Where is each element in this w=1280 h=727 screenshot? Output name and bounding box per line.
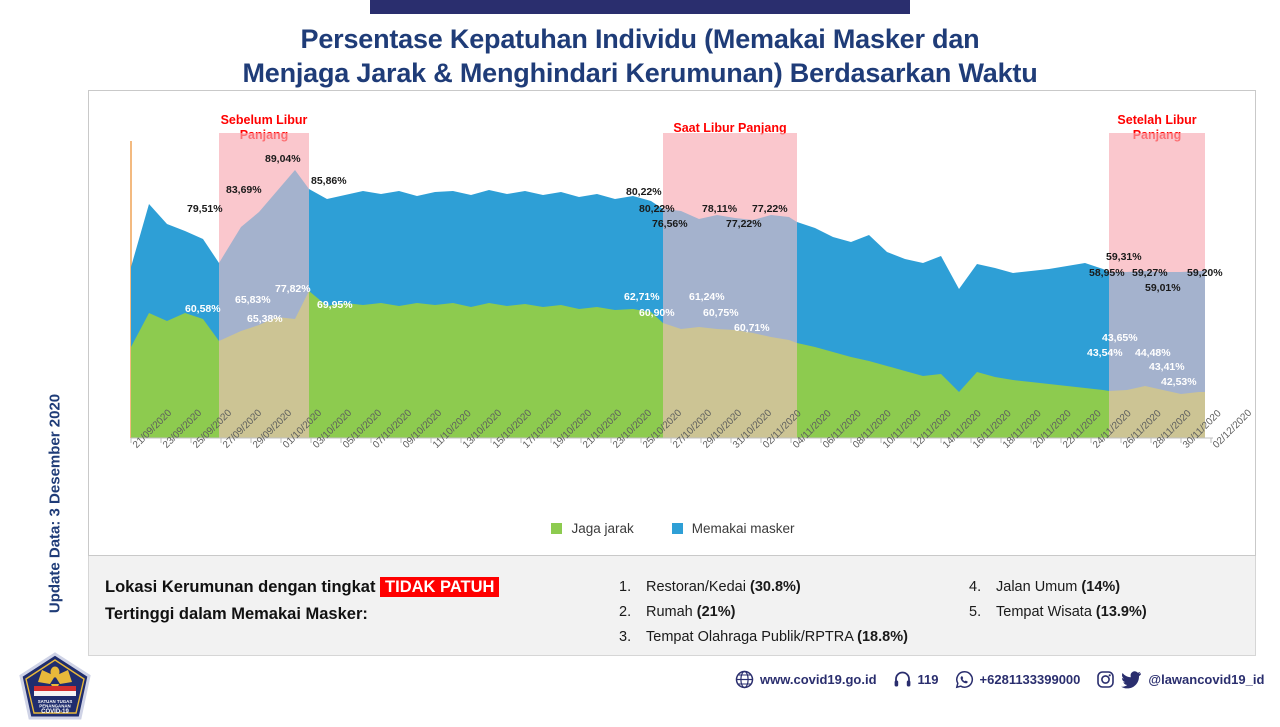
footer-contacts: www.covid19.go.id 119 +6281133399000 (735, 670, 1264, 689)
legend-swatch-green (551, 523, 562, 534)
data-label-jarak-b1-4: 77,82% (275, 283, 311, 295)
page-title-line-2: Menjaga Jarak & Menghindari Kerumunan) B… (90, 56, 1190, 90)
footer-social[interactable]: @lawancovid19_id (1096, 670, 1264, 689)
data-label-jarak-b1-5: 69,95% (317, 299, 353, 311)
list-item: 1. Restoran/Kedai (30.8%) (619, 575, 1019, 600)
info-panel: Lokasi Kerumunan dengan tingkat TIDAK PA… (88, 556, 1256, 656)
satgas-covid19-logo: SATUAN TUGAS PENANGANAN COVID-19 (18, 652, 92, 722)
headset-icon (893, 670, 912, 689)
data-label-masker-b3-4: 59,01% (1145, 282, 1181, 294)
data-label-masker-b3-3: 59,27% (1132, 267, 1168, 279)
svg-text:COVID-19: COVID-19 (41, 709, 69, 715)
data-label-masker-b2-3: 76,56% (652, 218, 688, 230)
info-heading-line2: Tertinggi dalam Memakai Masker: (105, 605, 368, 623)
data-label-masker-b3-5: 59,20% (1187, 267, 1223, 279)
data-label-jarak-b1-3: 65,38% (247, 313, 283, 325)
legend-swatch-blue (672, 523, 683, 534)
list-item-name: Tempat Wisata (996, 604, 1096, 620)
info-heading-highlight: TIDAK PATUH (380, 577, 499, 597)
footer-website-label: www.covid19.go.id (760, 672, 877, 687)
list-item-name: Rumah (646, 604, 697, 620)
legend-item-jaga-jarak[interactable]: Jaga jarak (551, 521, 633, 536)
list-item: 4. Jalan Umum (14%) (969, 575, 1269, 600)
data-label-jarak-b3-2: 43,65% (1102, 332, 1138, 344)
data-label-jarak-b3-3: 44,48% (1135, 347, 1171, 359)
data-label-masker-b1-3: 89,04% (265, 153, 301, 165)
footer: SATUAN TUGAS PENANGANAN COVID-19 www.cov… (0, 660, 1280, 718)
list-item: 2. Rumah (21%) (619, 600, 1019, 625)
data-label-masker-b1-4: 85,86% (311, 175, 347, 187)
data-label-jarak-b2-1: 62,71% (624, 291, 660, 303)
data-label-jarak-b3-5: 42,53% (1161, 376, 1197, 388)
data-label-masker-b2-1: 80,22% (626, 186, 662, 198)
legend-label-jaga-jarak: Jaga jarak (571, 521, 633, 536)
list-item-value: (30.8%) (750, 579, 801, 595)
update-data-note: Update Data: 3 Desember 2020 (10, 370, 90, 650)
twitter-icon (1121, 670, 1142, 689)
data-label-jarak-b2-4: 60,75% (703, 307, 739, 319)
legend-item-memakai-masker[interactable]: Memakai masker (672, 521, 795, 536)
list-item-name: Tempat Olahraga Publik/RPTRA (646, 629, 857, 645)
data-label-jarak-b1-2: 65,83% (235, 294, 271, 306)
whatsapp-icon (955, 670, 974, 689)
list-item-value: (18.8%) (857, 629, 908, 645)
data-label-masker-b3-2: 59,31% (1106, 251, 1142, 263)
data-label-masker-b2-6: 77,22% (726, 218, 762, 230)
band-overlay-saat (663, 133, 797, 438)
page-title: Persentase Kepatuhan Individu (Memakai M… (90, 22, 1190, 90)
data-label-jarak-b2-2: 60,90% (639, 307, 675, 319)
data-label-masker-b1-1: 79,51% (187, 203, 223, 215)
footer-hotline-label: 119 (918, 672, 939, 687)
list-item-text: Tempat Olahraga Publik/RPTRA (18.8%) (646, 625, 908, 650)
data-label-masker-b3-1: 58,95% (1089, 267, 1125, 279)
data-label-masker-b2-5: 77,22% (752, 203, 788, 215)
instagram-icon (1096, 670, 1115, 689)
footer-website[interactable]: www.covid19.go.id (735, 670, 877, 689)
list-item-text: Restoran/Kedai (30.8%) (646, 575, 801, 600)
list-item-name: Restoran/Kedai (646, 579, 750, 595)
footer-hotline[interactable]: 119 (893, 670, 939, 689)
chart-panel: Sebelum Libur Panjang Saat Libur Panjang… (88, 90, 1256, 556)
list-item-text: Rumah (21%) (646, 600, 735, 625)
footer-whatsapp-label: +6281133399000 (980, 672, 1081, 687)
footer-whatsapp[interactable]: +6281133399000 (955, 670, 1081, 689)
list-item-value: (13.9%) (1096, 604, 1147, 620)
legend-label-memakai-masker: Memakai masker (692, 521, 795, 536)
update-data-label: Update Data: 3 Desember 2020 (47, 374, 64, 634)
info-heading: Lokasi Kerumunan dengan tingkat TIDAK PA… (105, 574, 605, 628)
footer-social-label: @lawancovid19_id (1148, 672, 1264, 687)
list-item-name: Jalan Umum (996, 579, 1081, 595)
data-label-masker-b2-2: 80,22% (639, 203, 675, 215)
area-chart-plot (89, 91, 1257, 451)
info-list-column-1: 1. Restoran/Kedai (30.8%) 2. Rumah (21%)… (619, 575, 1019, 650)
list-item-number: 5. (969, 600, 987, 625)
chart-legend: Jaga jarak Memakai masker (89, 521, 1257, 536)
data-label-jarak-b3-4: 43,41% (1149, 361, 1185, 373)
globe-icon (735, 670, 754, 689)
info-list-column-2: 4. Jalan Umum (14%) 5. Tempat Wisata (13… (969, 575, 1269, 625)
page-title-line-1: Persentase Kepatuhan Individu (Memakai M… (90, 22, 1190, 56)
data-label-jarak-b3-1: 43,54% (1087, 347, 1123, 359)
list-item: 3. Tempat Olahraga Publik/RPTRA (18.8%) (619, 625, 1019, 650)
svg-text:PENANGANAN: PENANGANAN (39, 704, 70, 709)
list-item-value: (21%) (697, 604, 736, 620)
info-heading-pre: Lokasi Kerumunan dengan tingkat (105, 578, 380, 596)
list-item-number: 3. (619, 625, 637, 650)
list-item-number: 4. (969, 575, 987, 600)
data-label-masker-b1-2: 83,69% (226, 184, 262, 196)
data-label-jarak-b1-1: 60,58% (185, 303, 221, 315)
list-item-text: Jalan Umum (14%) (996, 575, 1120, 600)
data-label-jarak-b2-5: 60,71% (734, 322, 770, 334)
top-banner (370, 0, 910, 14)
list-item-value: (14%) (1081, 579, 1120, 595)
data-label-jarak-b2-3: 61,24% (689, 291, 725, 303)
list-item-text: Tempat Wisata (13.9%) (996, 600, 1147, 625)
list-item: 5. Tempat Wisata (13.9%) (969, 600, 1269, 625)
list-item-number: 1. (619, 575, 637, 600)
list-item-number: 2. (619, 600, 637, 625)
data-label-masker-b2-4: 78,11% (702, 203, 737, 215)
